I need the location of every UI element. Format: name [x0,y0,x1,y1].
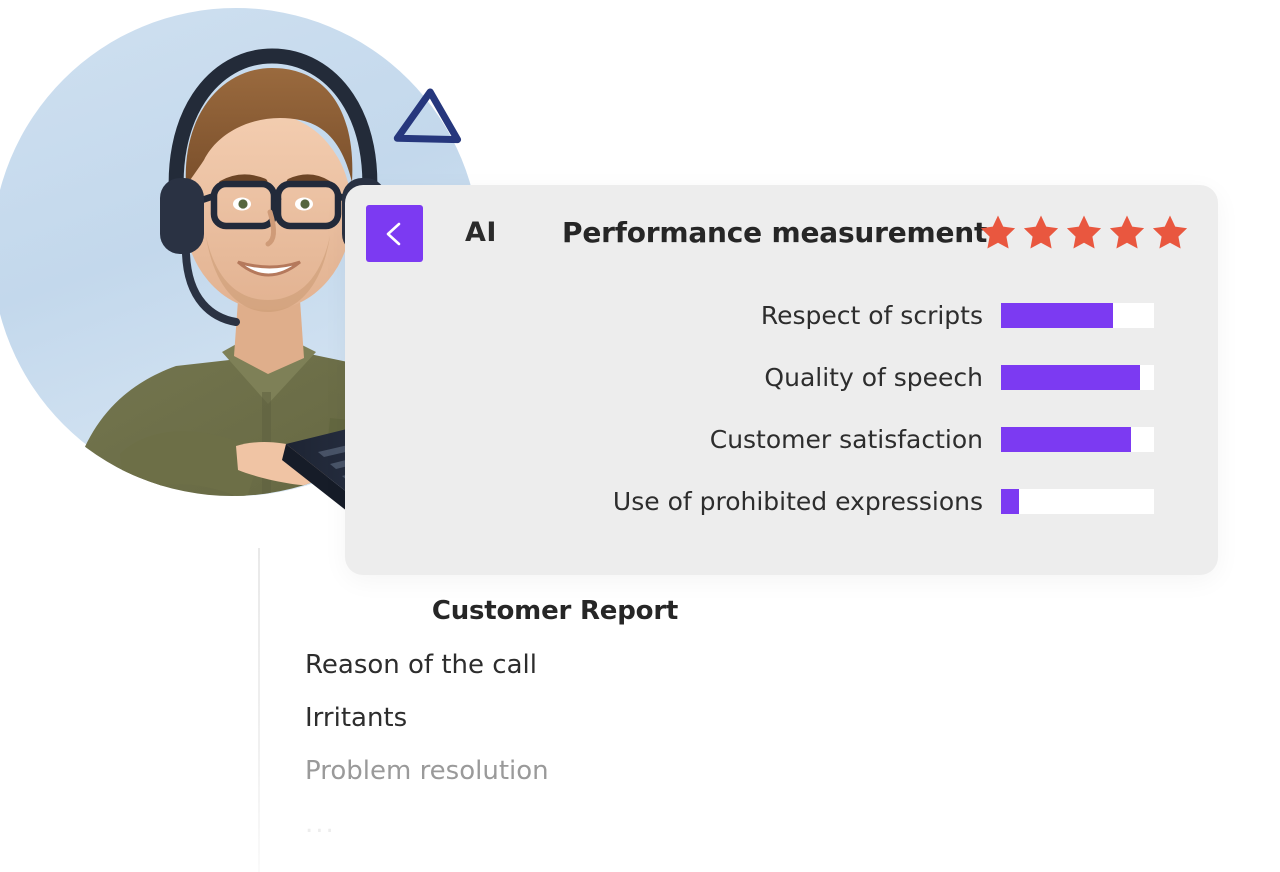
metric-progress-fill [1001,489,1019,514]
metric-progress-fill [1001,303,1113,328]
metric-label: Respect of scripts [345,303,1001,328]
star-icon [1151,213,1189,251]
triangle-outline-icon [390,82,467,154]
customer-report: Customer Report Reason of the call Irrit… [305,596,825,837]
metric-progress-track [1001,303,1154,328]
metric-label: Quality of speech [345,365,1001,390]
star-icon [979,213,1017,251]
metric-label: Customer satisfaction [345,427,1001,452]
report-item[interactable]: Reason of the call [305,652,825,678]
ai-label: AI [465,217,497,248]
star-icon [1022,213,1060,251]
metric-progress-track [1001,365,1154,390]
metric-row: Quality of speech [345,359,1218,395]
metric-progress-track [1001,489,1154,514]
chevron-left-icon [380,219,410,249]
metric-label: Use of prohibited expressions [345,489,1001,514]
metrics-list: Respect of scripts Quality of speech Cus… [345,297,1218,545]
vertical-divider [258,548,260,872]
metric-progress-fill [1001,427,1131,452]
report-more-ellipsis: ... [305,811,825,837]
metric-progress-fill [1001,365,1140,390]
report-title: Customer Report [305,596,805,626]
performance-card: AI Performance measurement Respect of sc… [345,185,1218,575]
card-header: AI Performance measurement [366,205,1194,265]
rating-stars [979,213,1189,251]
back-button[interactable] [366,205,423,262]
report-item[interactable]: Irritants [305,705,825,731]
metric-row: Respect of scripts [345,297,1218,333]
metric-row: Customer satisfaction [345,421,1218,457]
page-root: AI Performance measurement Respect of sc… [0,0,1280,872]
star-icon [1108,213,1146,251]
metric-progress-track [1001,427,1154,452]
metric-row: Use of prohibited expressions [345,483,1218,519]
star-icon [1065,213,1103,251]
report-item[interactable]: Problem resolution [305,758,825,784]
card-title: Performance measurement [562,216,987,249]
